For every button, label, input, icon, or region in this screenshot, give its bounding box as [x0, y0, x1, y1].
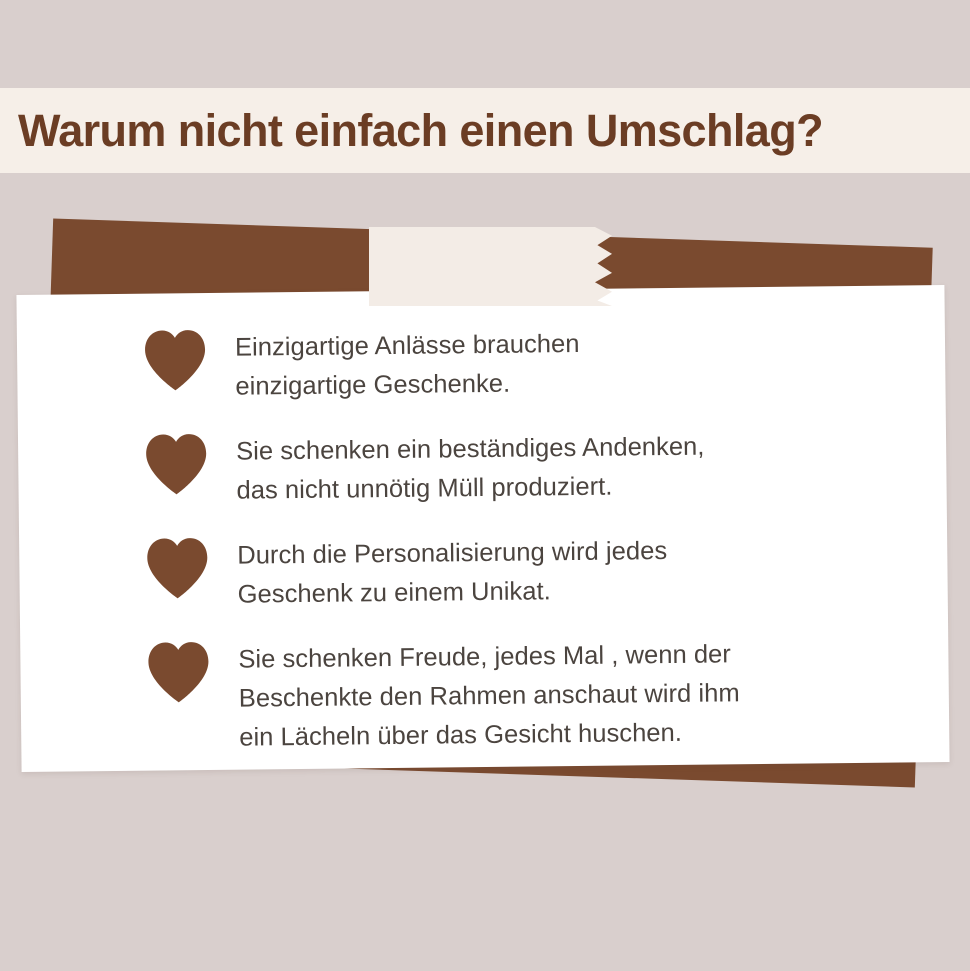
list-item: Durch die Personalisierung wird jedes Ge…: [145, 527, 948, 616]
heart-icon: [144, 433, 209, 496]
list-item-text: Sie schenken ein beständiges Andenken, d…: [236, 426, 705, 511]
heart-icon: [145, 537, 210, 600]
list-item-text: Einzigartige Anlässe brauchen einzigarti…: [235, 323, 580, 407]
content-card: Einzigartige Anlässe brauchen einzigarti…: [16, 285, 949, 772]
heart-icon: [143, 329, 208, 392]
poster-canvas: Einzigartige Anlässe brauchen einzigarti…: [0, 0, 970, 971]
list-item: Sie schenken ein beständiges Andenken, d…: [144, 423, 947, 512]
heart-icon: [146, 641, 211, 704]
benefit-list: Einzigartige Anlässe brauchen einzigarti…: [16, 285, 949, 760]
list-item-text: Sie schenken Freude, jedes Mal , wenn de…: [238, 633, 740, 757]
list-item: Einzigartige Anlässe brauchen einzigarti…: [143, 319, 946, 408]
list-item-text: Durch die Personalisierung wird jedes Ge…: [237, 530, 668, 615]
page-title: Warum nicht einfach einen Umschlag?: [18, 108, 823, 153]
title-banner: Warum nicht einfach einen Umschlag?: [0, 88, 970, 173]
list-item: Sie schenken Freude, jedes Mal , wenn de…: [146, 631, 949, 759]
washi-tape: [369, 227, 612, 306]
